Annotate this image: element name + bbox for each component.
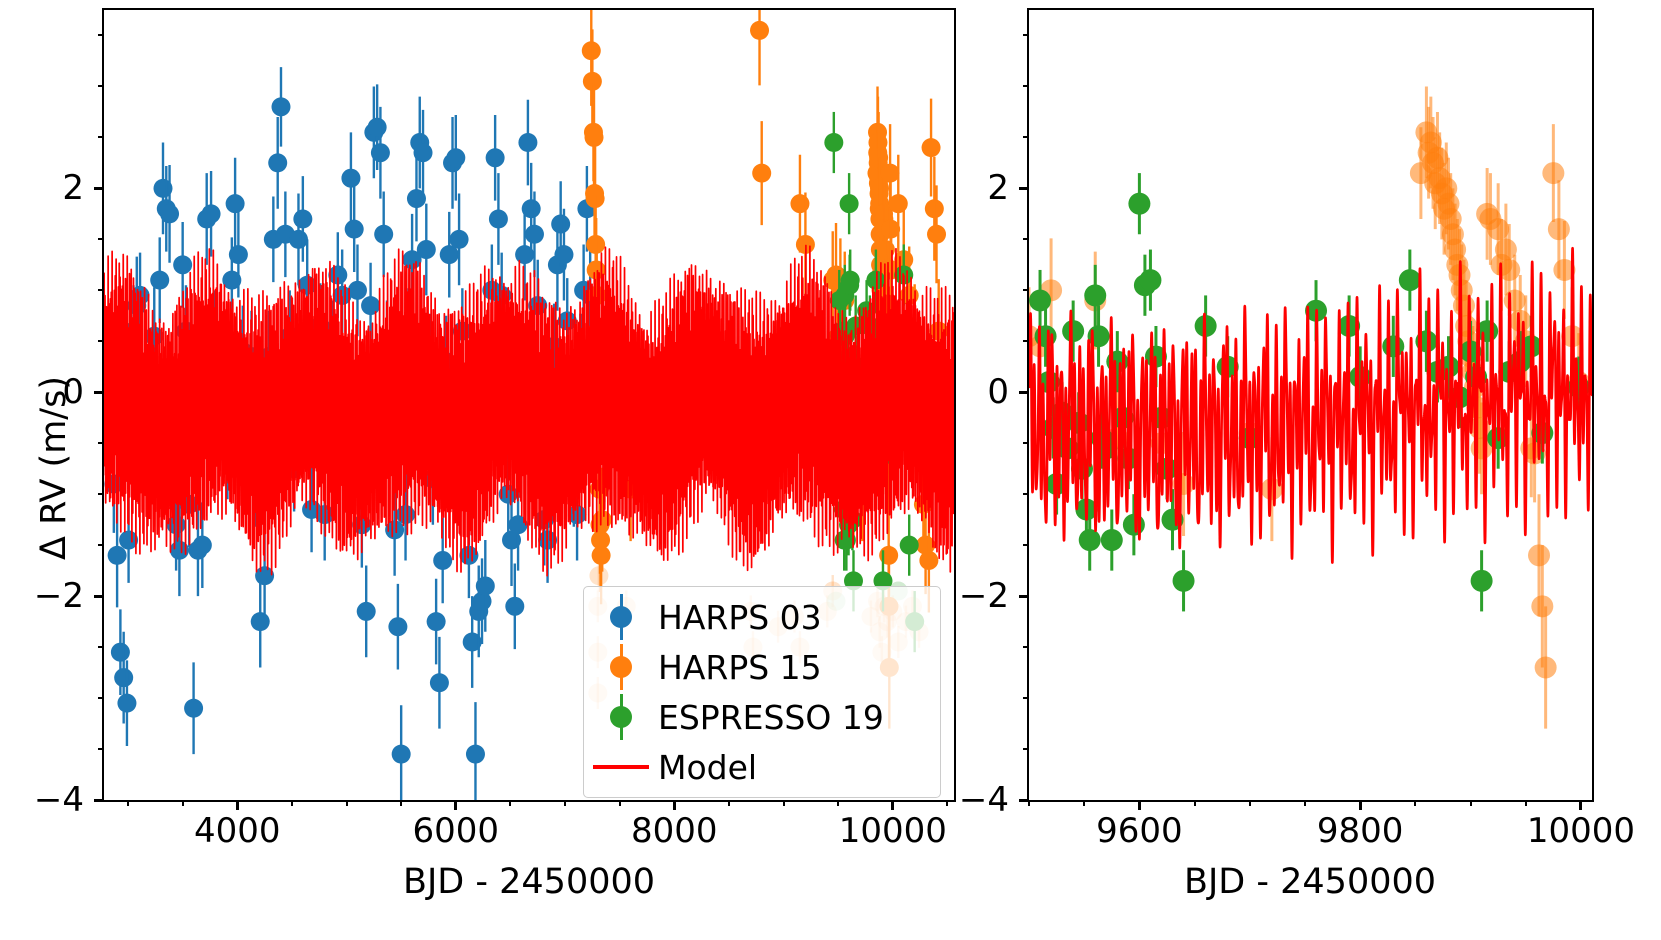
rv-timeseries-figure: Δ RV (m/s) −4−20240006000800010000 BJD -… (0, 0, 1661, 940)
x-tick-label: 10000 (1527, 814, 1635, 848)
y-minor-tick (98, 340, 104, 342)
data-point (117, 694, 136, 713)
y-minor-tick (98, 85, 104, 87)
x-major-tick (1359, 800, 1362, 810)
x-minor-tick (728, 800, 730, 806)
legend-handle (584, 593, 658, 641)
data-point (486, 148, 505, 167)
y-tick-label: −2 (0, 579, 84, 613)
data-point (1535, 656, 1557, 678)
data-point (150, 271, 169, 290)
y-major-tick (94, 595, 104, 598)
y-minor-tick (98, 289, 104, 291)
right-panel-x-axis-label: BJD - 2450000 (1184, 862, 1436, 902)
y-minor-tick (1023, 85, 1029, 87)
data-point (450, 230, 469, 249)
x-minor-tick (1083, 800, 1085, 806)
legend-label: Model (658, 748, 757, 787)
data-point (348, 281, 367, 300)
x-tick-label: 6000 (413, 814, 500, 848)
x-minor-tick (1525, 800, 1527, 806)
y-minor-tick (98, 442, 104, 444)
legend-item-espresso-19: ESPRESSO 19 (584, 693, 940, 741)
x-major-tick (454, 800, 457, 810)
data-point (1528, 544, 1550, 566)
data-point (1062, 320, 1084, 342)
y-minor-tick (1023, 238, 1029, 240)
data-point (1101, 529, 1123, 551)
x-minor-tick (291, 800, 293, 806)
x-minor-tick (182, 800, 184, 806)
right-panel-axes (1027, 8, 1594, 802)
x-major-tick (236, 800, 239, 810)
y-minor-tick (98, 544, 104, 546)
data-point (525, 225, 544, 244)
y-tick-label: 2 (919, 171, 1009, 205)
legend: HARPS 03HARPS 15ESPRESSO 19Model (583, 586, 941, 798)
data-point (446, 148, 465, 167)
data-point (173, 255, 192, 274)
data-point (1542, 162, 1564, 184)
y-minor-tick (1023, 34, 1029, 36)
y-minor-tick (1023, 442, 1029, 444)
y-tick-label: 0 (919, 375, 1009, 409)
data-point (841, 271, 860, 290)
data-point (1548, 218, 1570, 240)
x-major-tick (891, 800, 894, 810)
data-point (551, 215, 570, 234)
right-panel-plot-area (1029, 10, 1592, 800)
data-point (927, 225, 946, 244)
x-minor-tick (346, 800, 348, 806)
y-major-tick (1019, 595, 1029, 598)
y-minor-tick (98, 697, 104, 699)
data-point (114, 668, 133, 687)
data-point (1509, 310, 1531, 332)
x-minor-tick (400, 800, 402, 806)
x-major-tick (1579, 800, 1582, 810)
y-minor-tick (1023, 697, 1029, 699)
y-minor-tick (1023, 493, 1029, 495)
x-minor-tick (783, 800, 785, 806)
data-point (824, 133, 843, 152)
data-point (229, 245, 248, 264)
y-minor-tick (1023, 289, 1029, 291)
y-minor-tick (98, 493, 104, 495)
data-point (505, 597, 524, 616)
data-point (388, 617, 407, 636)
legend-marker-icon (610, 606, 632, 628)
data-point (368, 118, 387, 137)
y-tick-label: 2 (0, 171, 84, 205)
data-point (1139, 269, 1161, 291)
data-point (518, 133, 537, 152)
legend-item-harps-03: HARPS 03 (584, 593, 940, 641)
data-point (1084, 284, 1106, 306)
x-minor-tick (1414, 800, 1416, 806)
data-point (554, 245, 573, 264)
x-minor-tick (1194, 800, 1196, 806)
data-point (1029, 290, 1051, 312)
data-point (160, 204, 179, 223)
legend-line-icon (593, 765, 649, 769)
data-point (357, 602, 376, 621)
x-major-tick (1138, 800, 1141, 810)
y-major-tick (94, 799, 104, 802)
y-minor-tick (98, 136, 104, 138)
y-minor-tick (1023, 136, 1029, 138)
x-minor-tick (1304, 800, 1306, 806)
x-minor-tick (127, 800, 129, 806)
data-point (374, 225, 393, 244)
data-point (341, 169, 360, 188)
data-point (1504, 290, 1526, 312)
x-minor-tick (564, 800, 566, 806)
data-point (289, 230, 308, 249)
data-point (345, 220, 364, 239)
data-point (489, 209, 508, 228)
data-point (293, 209, 312, 228)
y-major-tick (94, 391, 104, 394)
x-tick-label: 9800 (1317, 814, 1404, 848)
data-point (226, 194, 245, 213)
data-point (522, 199, 541, 218)
y-minor-tick (1023, 646, 1029, 648)
legend-handle (584, 743, 658, 791)
data-point (427, 612, 446, 631)
x-major-tick (673, 800, 676, 810)
data-point (184, 699, 203, 718)
data-point (1173, 570, 1195, 592)
data-point (866, 271, 885, 290)
x-minor-tick (1470, 800, 1472, 806)
y-major-tick (1019, 187, 1029, 190)
data-point (268, 153, 287, 172)
data-point (919, 551, 938, 570)
data-point (193, 536, 212, 555)
x-tick-label: 8000 (631, 814, 718, 848)
legend-marker-icon (610, 656, 632, 678)
data-point (417, 240, 436, 259)
data-point (1079, 529, 1101, 551)
legend-label: HARPS 15 (658, 648, 822, 687)
data-point (750, 21, 769, 40)
data-point (111, 643, 130, 662)
y-minor-tick (1023, 544, 1029, 546)
data-point (1123, 514, 1145, 536)
y-major-tick (1019, 391, 1029, 394)
x-tick-label: 9600 (1096, 814, 1183, 848)
data-point (466, 745, 485, 764)
legend-label: HARPS 03 (658, 598, 822, 637)
data-point (881, 164, 900, 183)
data-point (251, 612, 270, 631)
data-point (1531, 595, 1553, 617)
y-minor-tick (98, 748, 104, 750)
data-point (1128, 193, 1150, 215)
legend-marker-icon (610, 706, 632, 728)
data-point (361, 296, 380, 315)
y-minor-tick (98, 34, 104, 36)
data-point (433, 551, 452, 570)
data-point (298, 276, 317, 295)
legend-handle (584, 693, 658, 741)
x-minor-tick (1028, 800, 1030, 806)
data-point (585, 128, 604, 147)
legend-item-model: Model (584, 743, 940, 791)
data-point (108, 546, 127, 565)
x-minor-tick (1249, 800, 1251, 806)
data-point (1399, 269, 1421, 291)
data-point (371, 143, 390, 162)
legend-label: ESPRESSO 19 (658, 698, 884, 737)
y-minor-tick (1023, 748, 1029, 750)
data-point (900, 536, 919, 555)
data-point (840, 194, 859, 213)
data-point (414, 143, 433, 162)
x-minor-tick (509, 800, 511, 806)
data-point (271, 97, 290, 116)
y-minor-tick (98, 646, 104, 648)
data-point (202, 204, 221, 223)
y-minor-tick (98, 238, 104, 240)
left-panel-x-axis-label: BJD - 2450000 (403, 862, 655, 902)
data-point (430, 673, 449, 692)
y-tick-label: 0 (0, 375, 84, 409)
legend-handle (584, 643, 658, 691)
x-tick-label: 4000 (194, 814, 281, 848)
legend-item-harps-15: HARPS 15 (584, 643, 940, 691)
data-point (922, 138, 941, 157)
data-point (752, 164, 771, 183)
data-point (476, 576, 495, 595)
data-point (593, 510, 612, 529)
y-major-tick (94, 187, 104, 190)
x-minor-tick (619, 800, 621, 806)
y-minor-tick (1023, 340, 1029, 342)
data-point (1471, 570, 1493, 592)
y-tick-label: −4 (0, 783, 84, 817)
x-tick-label: 10000 (839, 814, 947, 848)
data-point (392, 745, 411, 764)
x-minor-tick (837, 800, 839, 806)
